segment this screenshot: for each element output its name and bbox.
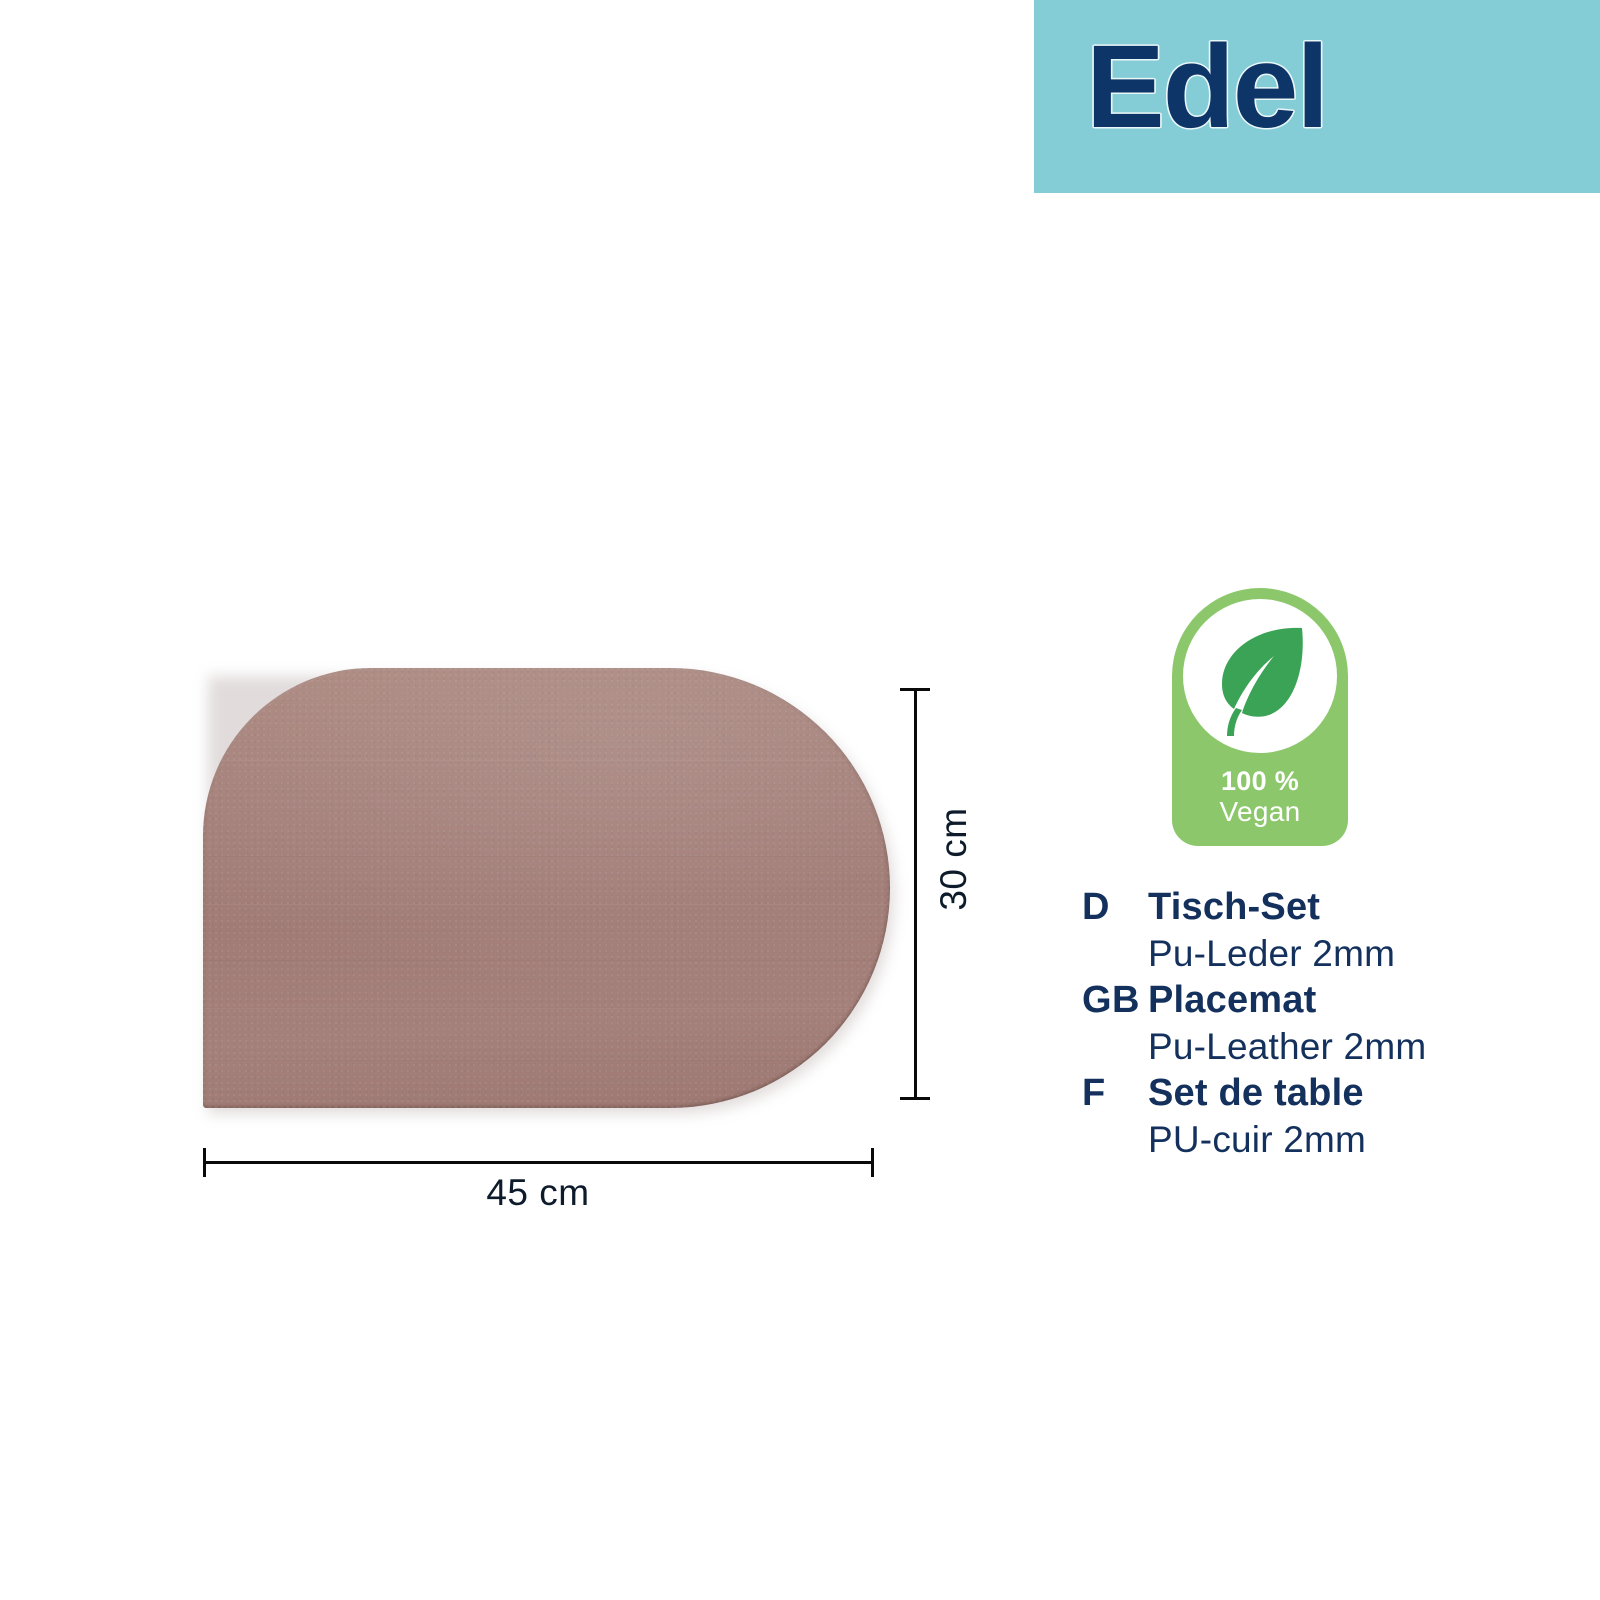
spec-subtitle: Pu-Leder 2mm (1148, 930, 1480, 977)
height-dimension-cap-bottom (900, 1097, 930, 1100)
vegan-badge-percent: 100 % (1172, 766, 1348, 797)
vegan-badge: 100 % Vegan (1172, 588, 1348, 846)
spec-row-fr: F Set de table PU-cuir 2mm (1060, 1070, 1480, 1163)
grain-line (203, 856, 890, 857)
spec-language-code: F (1060, 1070, 1148, 1116)
placemat-texture (203, 668, 890, 1108)
brand-banner: Edel (1034, 0, 1600, 193)
vegan-badge-word: Vegan (1172, 796, 1348, 828)
leaf-icon (1196, 612, 1324, 740)
product-figure: 30 cm 45 cm (0, 0, 1000, 1280)
spec-title: Set de table (1148, 1070, 1480, 1116)
grain-line (203, 1060, 890, 1061)
grain-line (203, 960, 890, 961)
spec-texts: Placemat Pu-Leather 2mm (1148, 977, 1480, 1070)
spec-list: D Tisch-Set Pu-Leder 2mm GB Placemat Pu-… (1060, 884, 1480, 1163)
spec-texts: Tisch-Set Pu-Leder 2mm (1148, 884, 1480, 977)
spec-texts: Set de table PU-cuir 2mm (1148, 1070, 1480, 1163)
spec-subtitle: Pu-Leather 2mm (1148, 1023, 1480, 1070)
placemat-product-image (203, 668, 890, 1108)
width-dimension-line (203, 1161, 873, 1164)
spec-language-code: GB (1060, 977, 1148, 1023)
grain-line (203, 1008, 890, 1009)
height-dimension-line (914, 688, 917, 1100)
grain-line (203, 904, 890, 905)
spec-subtitle: PU-cuir 2mm (1148, 1116, 1480, 1163)
spec-title: Tisch-Set (1148, 884, 1480, 930)
spec-row-gb: GB Placemat Pu-Leather 2mm (1060, 977, 1480, 1070)
grain-line (203, 760, 890, 761)
spec-language-code: D (1060, 884, 1148, 930)
height-dimension-label: 30 cm (933, 789, 975, 929)
brand-title: Edel (1086, 28, 1327, 146)
height-dimension-cap-top (900, 688, 930, 691)
spec-title: Placemat (1148, 977, 1480, 1023)
spec-row-de: D Tisch-Set Pu-Leder 2mm (1060, 884, 1480, 977)
width-dimension-label: 45 cm (203, 1172, 873, 1214)
